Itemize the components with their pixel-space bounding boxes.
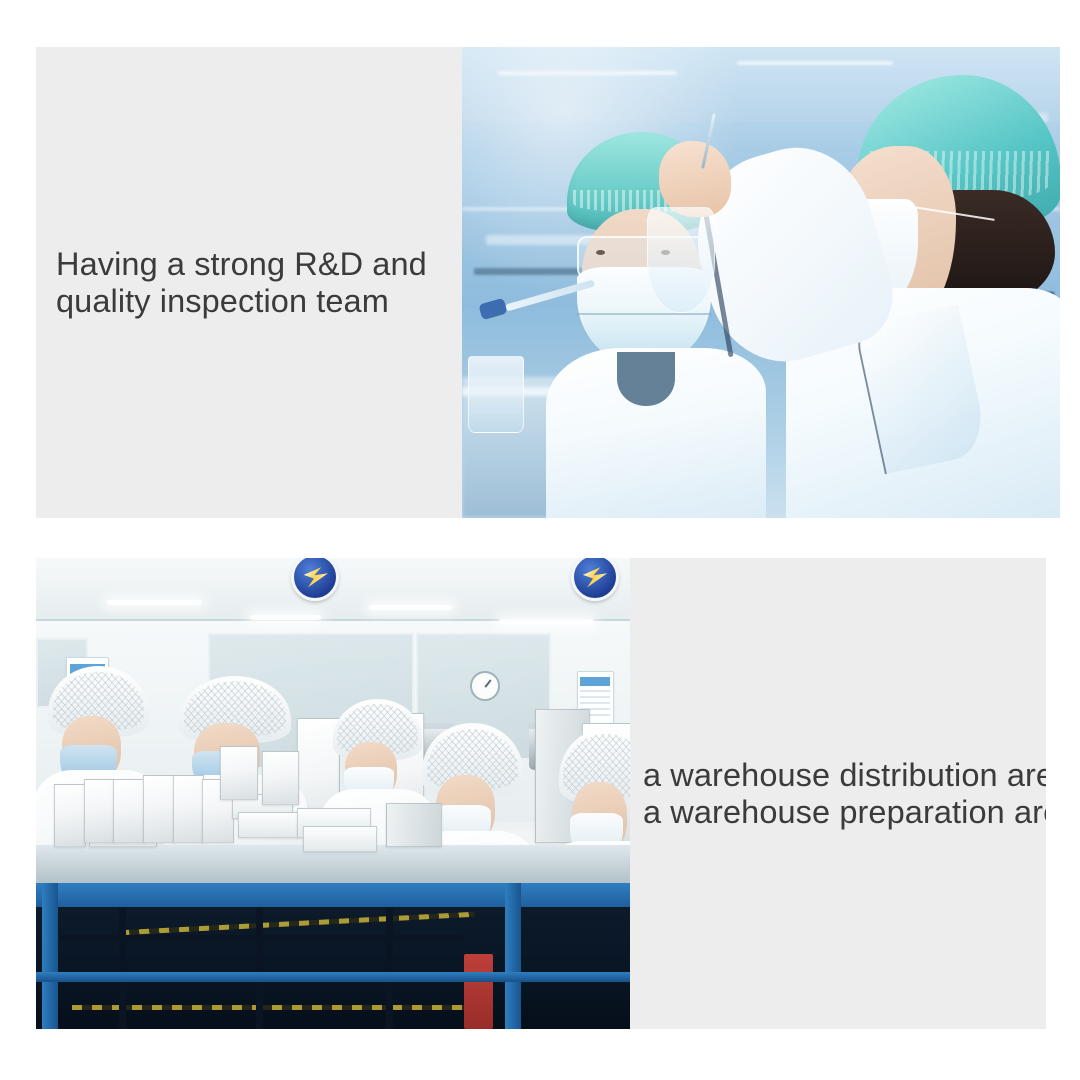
table-leg-right [505,883,521,1029]
section-warehouse-areas: a warehouse distribution area a warehous… [36,558,1046,1029]
white-carton-4 [84,779,116,842]
warehouse-caption-line-1: a warehouse distribution area [643,757,1046,794]
ceiling-fluorescent-light-1 [107,600,202,605]
table-cross-bar-2 [256,907,263,1029]
white-carton-10 [238,812,299,838]
table-leg-left [42,883,58,1029]
ceiling-fluorescent-light-4 [499,619,594,624]
red-clothing-hint [464,954,494,1029]
rnd-caption-line-2: quality inspection team [56,283,462,320]
lab-beaker [468,356,524,433]
warehouse-caption-block: a warehouse distribution area a warehous… [630,558,1046,1029]
ceiling-fluorescent-light-2 [250,615,321,620]
table-lower-shelf [36,972,630,982]
wall-clock [470,671,500,701]
white-carton-15 [220,746,258,800]
technician-eye-left [596,250,605,255]
lab-coat-collar [617,352,674,406]
table-cross-bar-3 [386,907,393,1029]
gloved-hand [659,141,731,216]
white-carton-12 [303,826,376,852]
ceiling-fluorescent-light-3 [369,605,452,610]
warehouse-packing-photo [36,558,630,1029]
table-cross-bar-1 [119,907,126,1029]
rnd-caption-block: Having a strong R&D and quality inspecti… [36,47,462,518]
table-blue-frame [36,883,630,909]
warehouse-caption-line-2: a warehouse preparation area [643,794,1046,831]
white-carton-13 [262,751,300,805]
lab-quality-inspection-photo [462,47,1060,518]
white-carton-6 [143,775,175,843]
white-carton-7 [173,775,205,843]
white-carton-5 [113,779,145,842]
section-rnd-quality: Having a strong R&D and quality inspecti… [36,47,1060,518]
banner-page: Having a strong R&D and quality inspecti… [0,0,1080,1080]
glass-flask [647,207,715,313]
rnd-caption-line-1: Having a strong R&D and [56,246,462,283]
white-carton-14 [386,803,441,847]
lab-ceiling-light-2 [737,61,892,65]
white-carton-3 [54,784,86,847]
yellow-hazard-floor-stripe-2 [72,1005,464,1010]
